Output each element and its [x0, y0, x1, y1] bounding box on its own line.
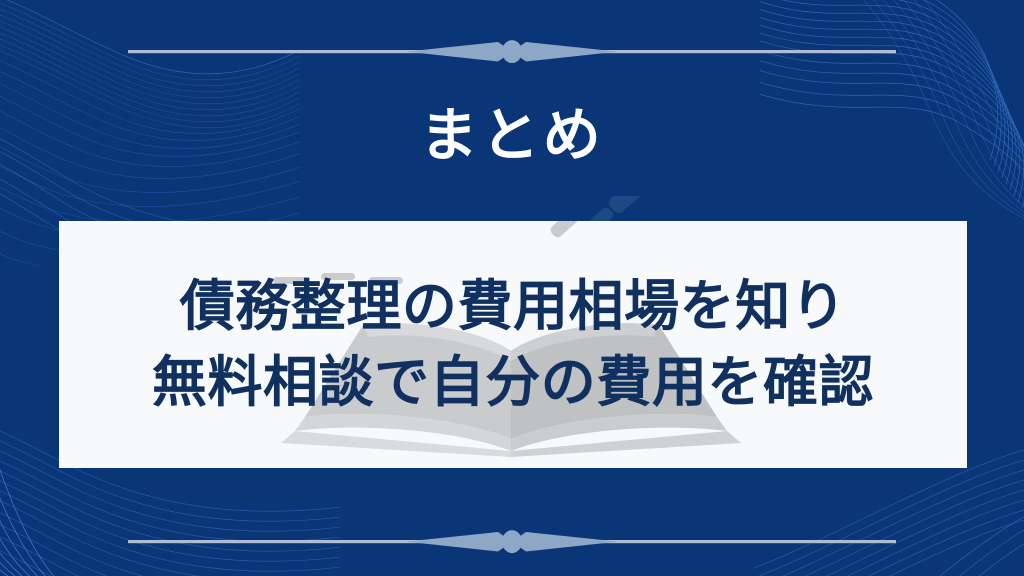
content-card: 債務整理の費用相場を知り 無料相談で自分の費用を確認 [59, 221, 967, 468]
page-title: まとめ [0, 104, 1024, 168]
ornamental-divider-bottom [128, 524, 896, 560]
card-line-1: 債務整理の費用相場を知り [180, 273, 847, 340]
divider-center-dot [502, 530, 522, 553]
card-text-block: 債務整理の費用相場を知り 無料相談で自分の費用を確認 [59, 221, 967, 468]
ornamental-divider-top [128, 34, 896, 70]
divider-arrow-right [512, 42, 618, 62]
divider-arrow-left [406, 42, 512, 62]
divider-center-dot [502, 40, 522, 63]
divider-arrow-left [406, 532, 512, 552]
card-line-2: 無料相談で自分の費用を確認 [152, 349, 874, 416]
gavel-watermark-overflow [59, 196, 967, 222]
divider-arrow-right [512, 532, 618, 552]
slide-canvas: まとめ [0, 0, 1024, 576]
